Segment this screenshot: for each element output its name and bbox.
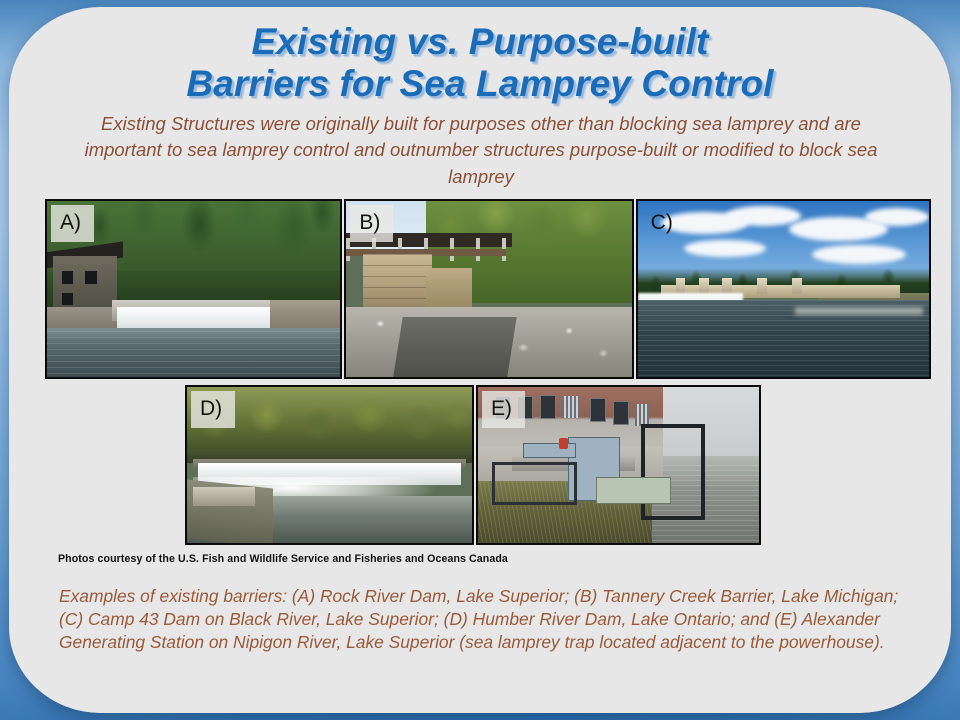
photo-label-b: B) (350, 205, 393, 242)
building-window (85, 271, 97, 283)
photo-credit: Photos courtesy of the U.S. Fish and Wil… (58, 553, 758, 565)
photo-b-tannery-creek-barrier: B) (344, 199, 633, 379)
slide-content-panel: Existing vs. Purpose-built Barriers for … (9, 7, 951, 713)
cloud (684, 240, 766, 258)
photo-d-humber-river-dam: D) (185, 385, 474, 545)
building-window (62, 271, 74, 283)
photo-c-camp-43-dam: C) (636, 199, 931, 379)
trap-platform (596, 477, 671, 504)
dam-pier (792, 278, 802, 294)
photo-label-c: C) (642, 205, 683, 242)
figure-caption: Examples of existing barriers: (A) Rock … (59, 585, 921, 654)
powerhouse-vent-grille (635, 404, 649, 426)
powerhouse-window (613, 401, 629, 425)
photo-e-alexander-generating-station: E) (476, 385, 761, 545)
photo-label-d: D) (191, 391, 235, 428)
title-line-1: Existing vs. Purpose-built (252, 21, 709, 62)
water-ripples (638, 300, 929, 377)
concrete-apron (193, 487, 256, 506)
title-line-2: Barriers for Sea Lamprey Control (9, 63, 951, 105)
slide-background: Existing vs. Purpose-built Barriers for … (0, 0, 960, 720)
cloud (865, 208, 929, 226)
cloud (725, 206, 801, 225)
powerhouse-window (540, 395, 556, 419)
photo-a-rock-river-dam: A) (45, 199, 342, 379)
dam-pier (757, 278, 767, 294)
photo-row-bottom: D) (185, 385, 761, 545)
powerhouse-window (590, 398, 606, 422)
subtitle-text: Existing Structures were originally buil… (81, 111, 881, 190)
photo-row-top: A) B) (45, 199, 931, 379)
building-window (62, 293, 74, 305)
water-ripples (47, 331, 340, 377)
red-marker (559, 438, 567, 449)
barrier-channel (393, 317, 517, 377)
pipe-handrail (492, 462, 577, 505)
page-title: Existing vs. Purpose-built Barriers for … (9, 21, 951, 105)
hoist-gantry-frame (641, 424, 705, 519)
photo-label-a: A) (51, 205, 94, 242)
photo-label-e: E) (482, 391, 525, 428)
powerhouse-vent-grille (562, 396, 579, 418)
